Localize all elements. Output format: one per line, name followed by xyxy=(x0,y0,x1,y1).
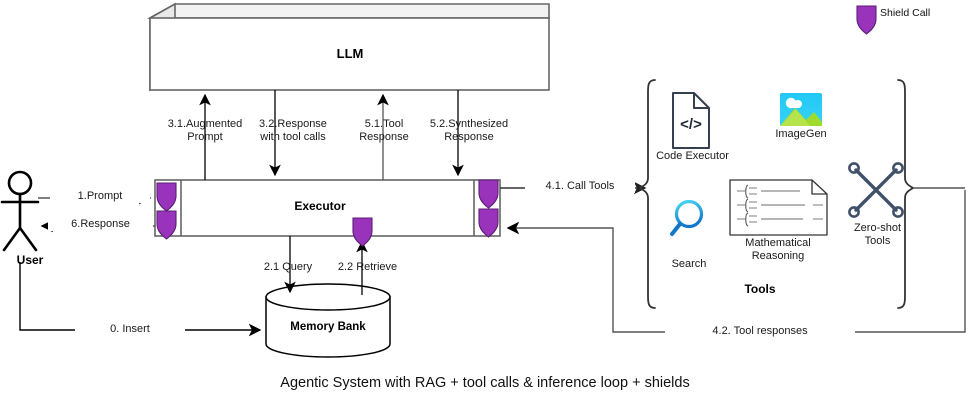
edge-label-insert: 0. Insert xyxy=(75,323,185,336)
tool-label-search: Search xyxy=(654,258,724,271)
user-label: User xyxy=(0,253,60,267)
llm-label: LLM xyxy=(150,46,550,61)
diagram-caption: Agentic System with RAG + tool calls & i… xyxy=(0,375,970,391)
executor-label: Executor xyxy=(170,199,470,213)
edge-label-synthesized-response: 5.2.Synthesized Response xyxy=(410,118,528,144)
memory-bank-label: Memory Bank xyxy=(263,321,393,333)
tools-right-brace xyxy=(898,80,913,308)
tool-label-code-executor: Code Executor xyxy=(645,150,740,163)
connector-layer: </> xyxy=(0,0,970,411)
edge-label-call-tools: 4.1. Call Tools xyxy=(525,180,635,193)
edge-label-prompt: 1.Prompt xyxy=(50,190,150,203)
user-actor-icon xyxy=(2,172,38,250)
tools-group-label: Tools xyxy=(715,282,805,296)
edge-label-response: 6.Response xyxy=(48,218,153,231)
tools-left-brace xyxy=(640,80,655,308)
shield-icon-legend xyxy=(857,6,876,34)
crossed-wrenches-icon xyxy=(849,163,902,216)
edge-label-retrieve: 2.2 Retrieve xyxy=(325,261,410,274)
shield-icon-memory xyxy=(353,218,372,246)
edge-label-query: 2.1 Query xyxy=(248,261,328,274)
legend-shield-label: Shield Call xyxy=(880,7,930,19)
tool-label-zero-shot-tools: Zero-shot Tools xyxy=(840,222,915,248)
code-document-icon: </> xyxy=(673,93,709,148)
tool-label-imagegen: ImageGen xyxy=(761,128,841,141)
edge-label-tool-responses: 4.2. Tool responses xyxy=(665,325,855,338)
svg-text:</>: </> xyxy=(680,116,702,133)
edge-insert xyxy=(20,262,260,330)
tool-label-math-reasoning: Mathematical Reasoning xyxy=(728,237,828,263)
diagram-canvas: </> xyxy=(0,0,970,411)
image-gen-icon xyxy=(780,93,822,126)
math-document-icon xyxy=(730,180,827,235)
magnifier-icon xyxy=(672,202,702,235)
